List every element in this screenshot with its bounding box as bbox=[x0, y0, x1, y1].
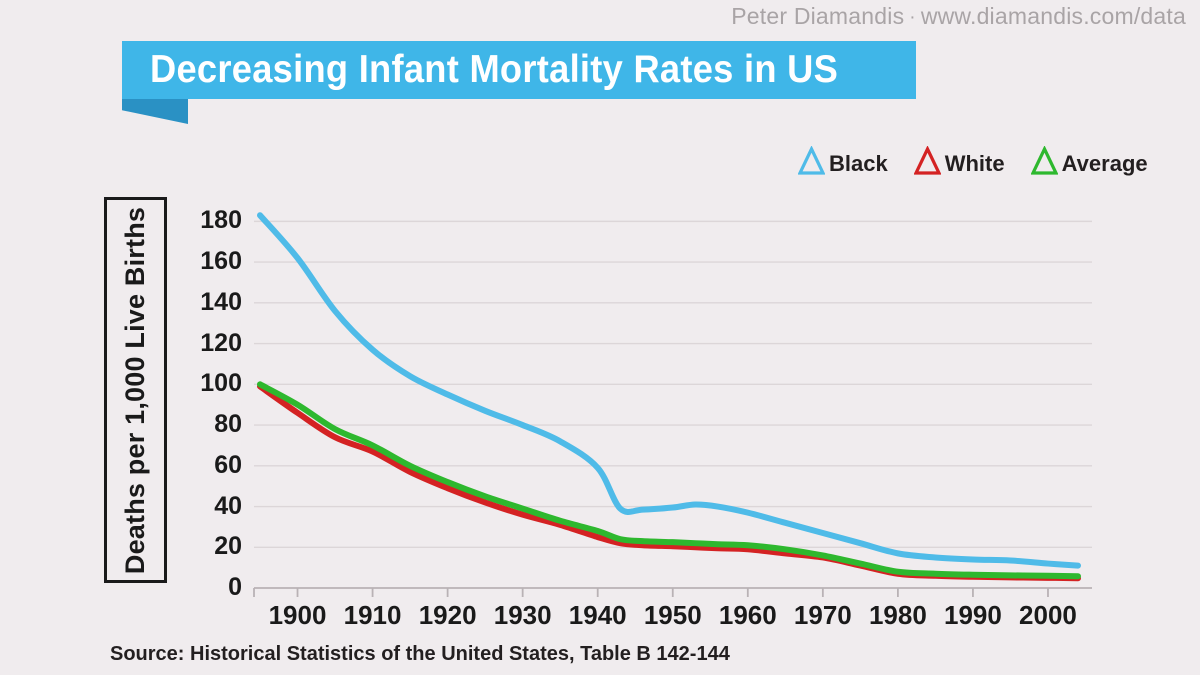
x-axis-tick-label: 1920 bbox=[406, 600, 490, 631]
slide-canvas: Peter Diamandis·www.diamandis.com/data D… bbox=[0, 0, 1200, 675]
x-axis-tick-label: 1900 bbox=[256, 600, 340, 631]
x-axis-tick-label: 1970 bbox=[781, 600, 865, 631]
y-axis-tick-label: 20 bbox=[184, 532, 242, 561]
y-axis-tick-label: 140 bbox=[184, 288, 242, 317]
y-axis-tick-label: 40 bbox=[184, 492, 242, 521]
y-axis-tick-label: 0 bbox=[184, 573, 242, 602]
x-axis-tick-label: 1960 bbox=[706, 600, 790, 631]
y-axis-tick-label: 60 bbox=[184, 451, 242, 480]
chart-plot-area bbox=[0, 0, 1200, 675]
x-axis-tick-label: 2000 bbox=[1006, 600, 1090, 631]
x-axis-tick-label: 1940 bbox=[556, 600, 640, 631]
source-note: Source: Historical Statistics of the Uni… bbox=[110, 643, 730, 666]
y-axis-tick-label: 100 bbox=[184, 369, 242, 398]
y-axis-tick-label: 80 bbox=[184, 410, 242, 439]
x-axis-tick-label: 1950 bbox=[631, 600, 715, 631]
series-line-white bbox=[260, 386, 1078, 578]
y-axis-tick-label: 180 bbox=[184, 206, 242, 235]
y-axis-tick-label: 120 bbox=[184, 329, 242, 358]
y-axis-tick-label: 160 bbox=[184, 247, 242, 276]
x-axis-tick-label: 1930 bbox=[481, 600, 565, 631]
series-line-black bbox=[260, 215, 1078, 565]
x-axis-tick-label: 1990 bbox=[931, 600, 1015, 631]
x-axis-tick-label: 1980 bbox=[856, 600, 940, 631]
x-axis-tick-label: 1910 bbox=[331, 600, 415, 631]
